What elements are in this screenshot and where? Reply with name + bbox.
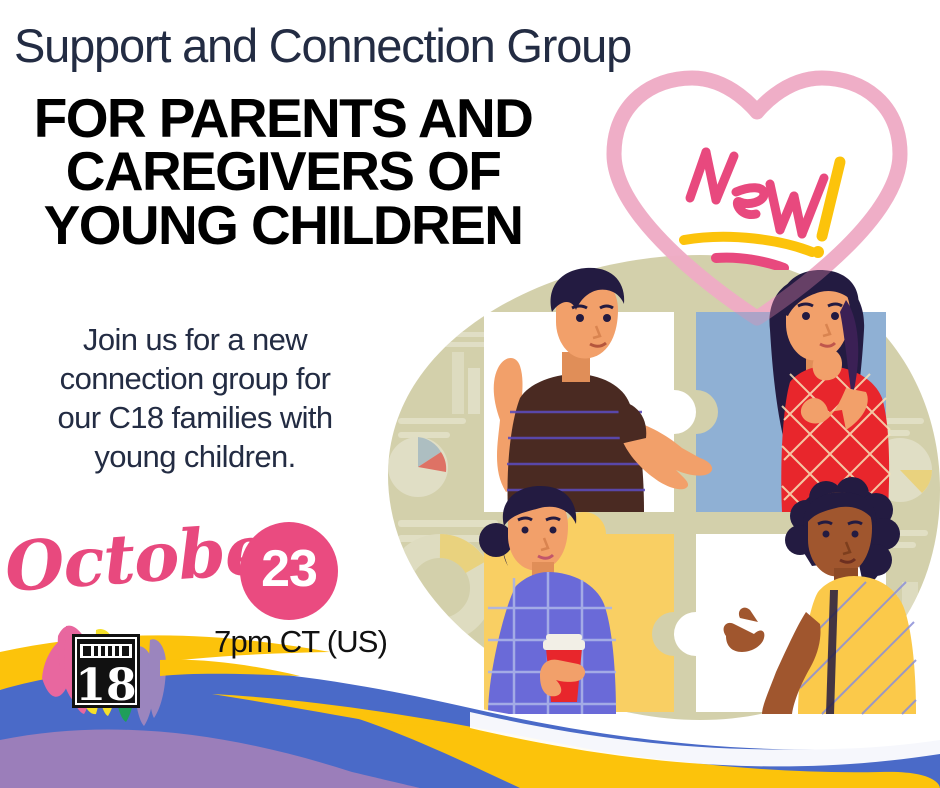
headline-line-1: FOR PARENTS AND [18, 92, 548, 145]
event-time: 7pm CT (US) [214, 624, 387, 660]
headline-line-3: YOUNG CHILDREN [18, 199, 548, 252]
blurb-line-3: our C18 families with [20, 398, 370, 437]
event-day-badge: 23 [240, 522, 338, 620]
new-badge-underline-yellow [684, 237, 812, 252]
person-top-right [769, 270, 890, 512]
poster-canvas: Support and Connection Group FOR PARENTS… [0, 0, 940, 788]
chromosome-18-logo: 18 [26, 616, 176, 746]
description-text: Join us for a new connection group for o… [20, 320, 370, 476]
blurb-line-4: young children. [20, 437, 370, 476]
page-title: FOR PARENTS AND CAREGIVERS OF YOUNG CHIL… [18, 92, 548, 252]
event-day-number: 23 [261, 543, 317, 595]
eyebrow-title: Support and Connection Group [14, 18, 631, 73]
new-badge-underline-pink [716, 258, 784, 268]
new-badge [672, 140, 872, 270]
logo-chromosome-bar [80, 644, 132, 658]
blurb-line-1: Join us for a new [20, 320, 370, 359]
logo-number: 18 [75, 660, 136, 711]
blurb-line-2: connection group for [20, 359, 370, 398]
headline-line-2: CAREGIVERS OF [18, 145, 548, 198]
new-badge-word [690, 152, 824, 234]
